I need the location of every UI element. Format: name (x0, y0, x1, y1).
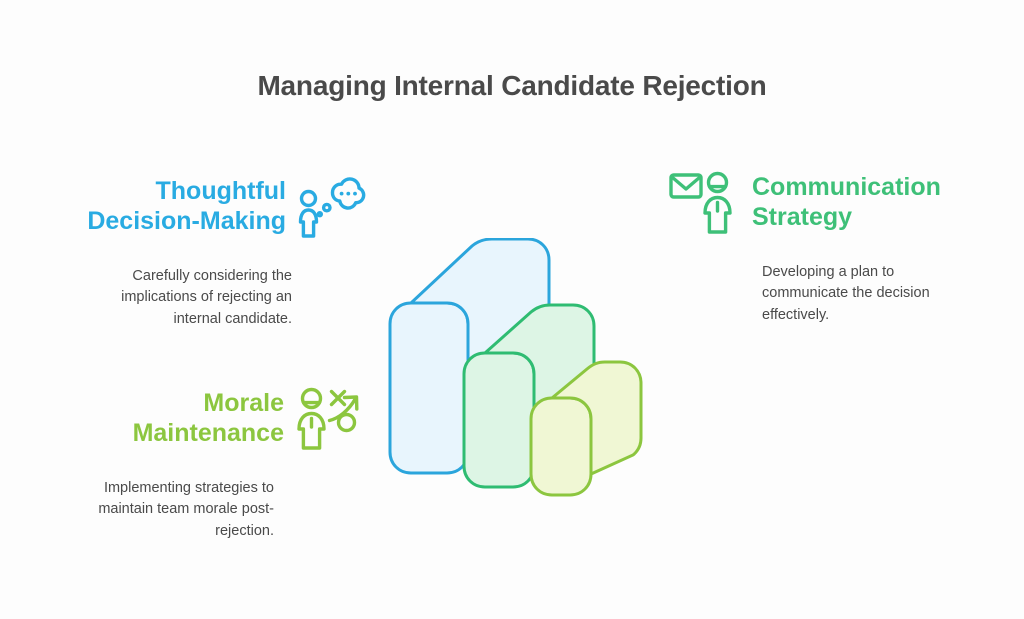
feature-thoughtful-decision-making: Thoughtful Decision-Making (46, 170, 366, 330)
feature-title-line-2: Decision-Making (74, 206, 286, 237)
feature-header: Communication Strategy (668, 166, 998, 238)
feature-description: Implementing strategies to maintain team… (56, 478, 274, 542)
feature-title-line-1: Morale (72, 388, 284, 419)
feature-title: Communication Strategy (752, 172, 984, 233)
feature-title-line-2: Strategy (752, 202, 984, 233)
person-thought-bubble-icon (294, 170, 366, 242)
inner-box-front-face (531, 398, 591, 495)
infographic-canvas: Managing Internal Candidate Rejection Th… (0, 0, 1024, 619)
outer-box-front-face (390, 303, 468, 473)
page-title: Managing Internal Candidate Rejection (0, 70, 1024, 102)
feature-communication-strategy: Communication Strategy Developing a plan… (668, 166, 998, 326)
feature-description: Developing a plan to communicate the dec… (762, 262, 984, 326)
feature-title: Thoughtful Decision-Making (74, 176, 286, 237)
feature-header: Thoughtful Decision-Making (46, 170, 366, 242)
nested-isometric-boxes-graphic (368, 238, 664, 512)
feature-title-line-2: Maintenance (72, 418, 284, 449)
feature-title: Morale Maintenance (72, 388, 284, 449)
person-strategy-playbook-icon (294, 382, 366, 454)
feature-description: Carefully considering the implications o… (74, 266, 292, 330)
feature-title-line-1: Communication (752, 172, 984, 203)
envelope-person-icon (668, 166, 740, 238)
feature-title-line-1: Thoughtful (74, 176, 286, 207)
feature-morale-maintenance: Morale Maintenance (46, 382, 366, 542)
middle-box-front-face (464, 353, 534, 487)
feature-header: Morale Maintenance (46, 382, 366, 454)
